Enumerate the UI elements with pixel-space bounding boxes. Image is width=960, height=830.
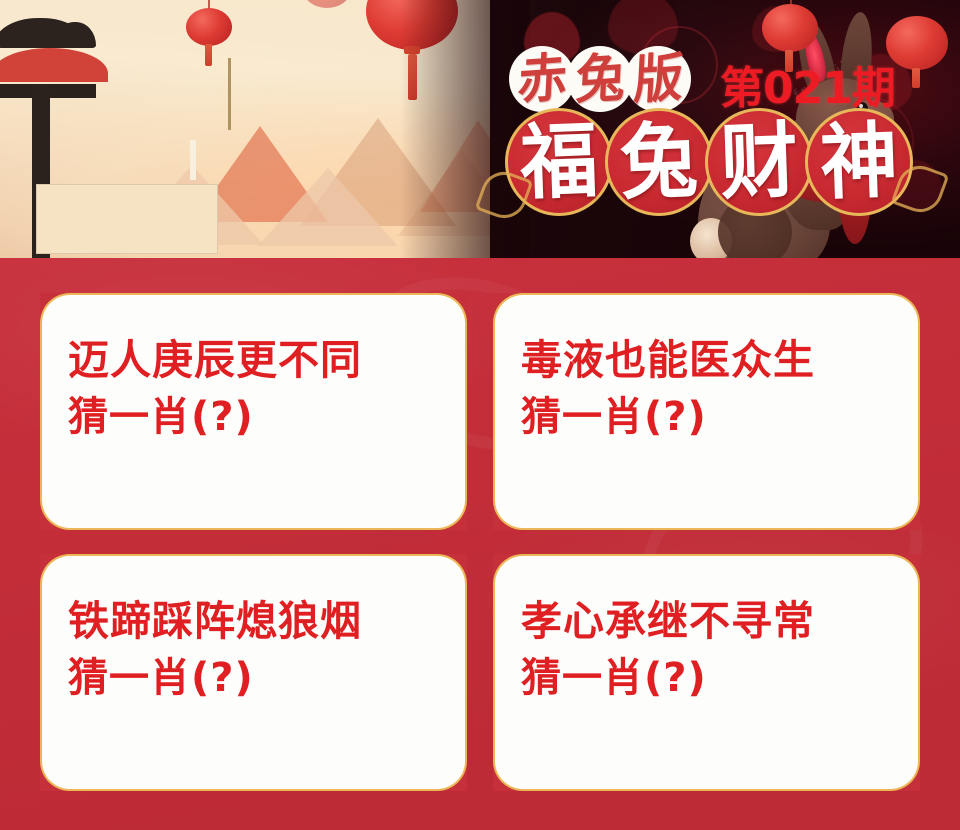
edition-badge-circle: 赤 <box>509 46 575 112</box>
riddle-card-content: 铁蹄踩阵熄狼烟 猜一肖(?) <box>42 556 465 789</box>
title-char: 神 <box>819 120 899 205</box>
riddle-answer-placeholder[interactable]: 猜一肖(?) <box>521 389 918 446</box>
edition-badge-circle: 兔 <box>567 46 633 112</box>
lantern-icon <box>762 4 818 52</box>
card-corner-cut <box>890 554 920 584</box>
title-circle: 财 <box>705 108 813 216</box>
edition-badge-char: 兔 <box>574 51 626 107</box>
card-corner-cut <box>40 500 70 530</box>
riddle-prompt: 迈人庚辰更不同 <box>68 331 465 389</box>
pagoda-spire <box>228 58 231 130</box>
title-lockup: 赤 兔 版 第021期 福 兔 财 <box>505 46 935 256</box>
riddle-card-content: 迈人庚辰更不同 猜一肖(?) <box>42 295 465 528</box>
card-corner-cut <box>437 554 467 584</box>
card-corner-cut <box>437 293 467 323</box>
riddle-prompt: 孝心承继不寻常 <box>521 592 918 650</box>
card-corner-cut <box>493 761 523 791</box>
card-corner-cut <box>40 554 70 584</box>
poster-page: freepik freepik <box>0 0 960 830</box>
card-corner-cut <box>890 761 920 791</box>
riddle-card[interactable]: 孝心承继不寻常 猜一肖(?) <box>493 554 920 791</box>
card-corner-cut <box>40 761 70 791</box>
riddle-card[interactable]: 铁蹄踩阵熄狼烟 猜一肖(?) <box>40 554 467 791</box>
riddle-card-content: 毒液也能医众生 猜一肖(?) <box>495 295 918 528</box>
edition-badge-circle: 版 <box>625 46 691 112</box>
lantern-tassel <box>205 44 212 66</box>
lantern-icon <box>886 16 948 70</box>
card-corner-cut <box>493 554 523 584</box>
title-char: 兔 <box>619 120 699 205</box>
card-corner-cut <box>890 293 920 323</box>
card-corner-cut <box>437 500 467 530</box>
riddle-card[interactable]: 毒液也能医众生 猜一肖(?) <box>493 293 920 530</box>
edition-badge-char: 赤 <box>516 51 568 107</box>
hero-banner: freepik freepik <box>0 0 960 262</box>
issue-number-label: 第021期 <box>720 52 895 116</box>
riddle-prompt: 毒液也能医众生 <box>521 331 918 389</box>
redacted-text-box <box>36 184 218 254</box>
card-corner-cut <box>493 500 523 530</box>
card-corner-cut <box>437 761 467 791</box>
title-char: 财 <box>719 120 799 205</box>
riddle-card-grid: 迈人庚辰更不同 猜一肖(?) 毒液也能医众生 猜一肖(?) 铁蹄踩阵熄狼烟 猜一… <box>40 293 920 791</box>
card-corner-cut <box>40 293 70 323</box>
pagoda-silhouette <box>258 168 398 246</box>
riddle-answer-placeholder[interactable]: 猜一肖(?) <box>68 389 465 446</box>
riddle-card-content: 孝心承继不寻常 猜一肖(?) <box>495 556 918 789</box>
riddle-prompt: 铁蹄踩阵熄狼烟 <box>68 592 465 650</box>
pagoda-spire <box>190 140 196 180</box>
riddle-answer-placeholder[interactable]: 猜一肖(?) <box>521 650 918 707</box>
lantern-icon <box>186 8 232 46</box>
riddle-card[interactable]: 迈人庚辰更不同 猜一肖(?) <box>40 293 467 530</box>
edition-badge-char: 版 <box>632 51 684 107</box>
title-circle: 兔 <box>605 108 713 216</box>
title-char: 福 <box>519 120 599 205</box>
lantern-tassel <box>785 50 793 72</box>
lantern-tassel <box>912 68 920 88</box>
riddle-answer-placeholder[interactable]: 猜一肖(?) <box>68 650 465 707</box>
card-corner-cut <box>890 500 920 530</box>
card-corner-cut <box>493 293 523 323</box>
